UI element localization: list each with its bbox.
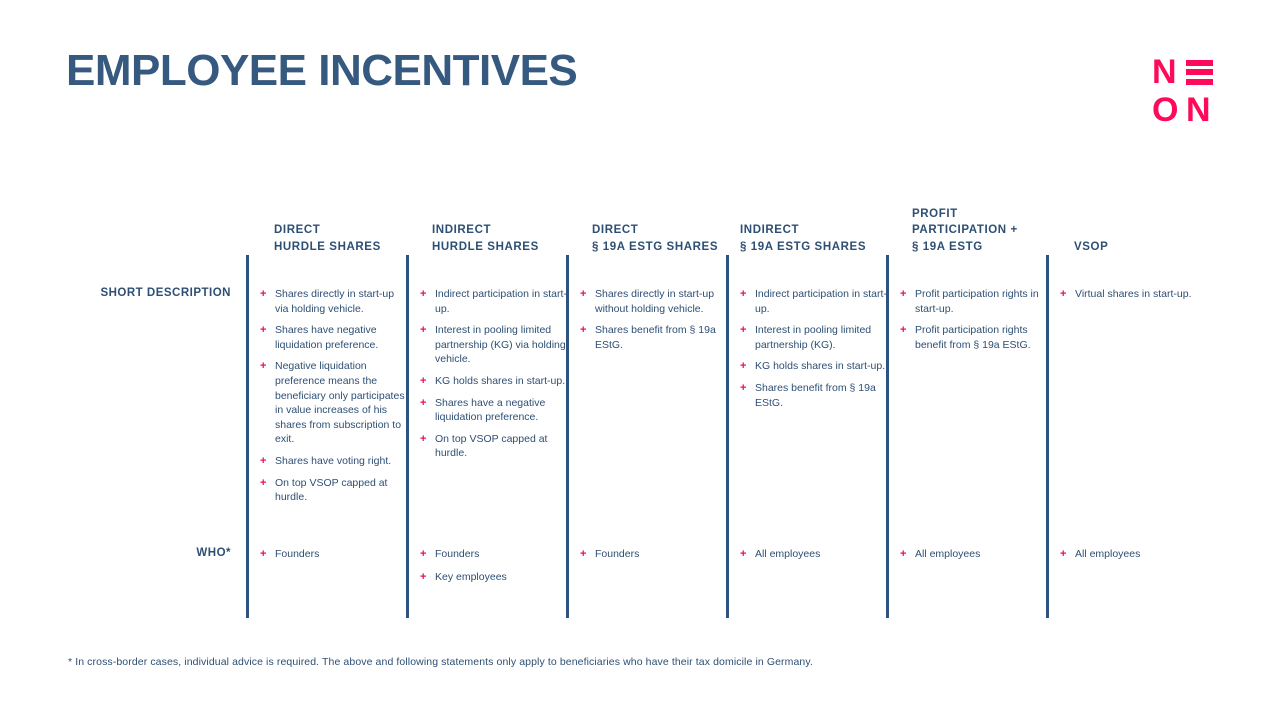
header-line: PARTICIPATION +	[912, 222, 1062, 239]
list-item: +Key employees	[420, 570, 568, 585]
list-item-text: Negative liquidation preference means th…	[275, 360, 405, 445]
header-line: § 19A ESTG SHARES	[740, 239, 890, 256]
list-item: +Negative liquidation preference means t…	[260, 359, 408, 447]
logo-letter-e-bars-icon	[1186, 60, 1220, 85]
list-item-text: All employees	[915, 548, 980, 560]
list-item: +Profit participation rights benefit fro…	[900, 323, 1052, 352]
list-item-text: Shares have a negative liquidation prefe…	[435, 397, 545, 424]
list-item: +KG holds shares in start-up.	[740, 359, 888, 374]
column-header-direct-hurdle-shares: DIRECT HURDLE SHARES	[274, 222, 424, 255]
header-line: HURDLE SHARES	[274, 239, 424, 256]
bullet-plus-icon: +	[740, 323, 746, 338]
list-item: +Founders	[580, 547, 728, 562]
cell-short-description-direct-hurdle-shares: +Shares directly in start-up via holding…	[260, 287, 408, 505]
bullet-plus-icon: +	[260, 454, 266, 469]
bullet-plus-icon: +	[580, 323, 586, 338]
list-item-text: Founders	[595, 548, 639, 560]
list-item-text: On top VSOP capped at hurdle.	[435, 433, 547, 460]
header-line: § 19A ESTG SHARES	[592, 239, 742, 256]
list-item: +On top VSOP capped at hurdle.	[260, 476, 408, 505]
cell-who-direct-hurdle-shares: +Founders	[260, 547, 408, 562]
bullet-plus-icon: +	[260, 323, 266, 338]
bullet-plus-icon: +	[1060, 287, 1066, 302]
column-header-indirect-19a-estg-shares: INDIRECT § 19A ESTG SHARES	[740, 222, 890, 255]
logo-letter-n-bottom-right: N	[1186, 93, 1220, 127]
list-item-text: Profit participation rights benefit from…	[915, 324, 1031, 351]
cell-short-description-profit-participation-19a-estg: +Profit participation rights in start-up…	[900, 287, 1052, 352]
bullet-plus-icon: +	[420, 432, 426, 447]
bullet-plus-icon: +	[740, 547, 746, 562]
bullet-plus-icon: +	[420, 396, 426, 411]
bullet-plus-icon: +	[580, 287, 586, 302]
list-item-text: Indirect participation in start-up.	[435, 288, 567, 315]
list-item: +Profit participation rights in start-up…	[900, 287, 1052, 316]
list-item-text: Founders	[435, 548, 479, 560]
page-title: EMPLOYEE INCENTIVES	[66, 49, 577, 93]
header-line: DIRECT	[274, 222, 424, 239]
bullet-plus-icon: +	[900, 323, 906, 338]
list-item: +All employees	[900, 547, 1048, 562]
list-item: +Founders	[420, 547, 568, 562]
list-item-text: Key employees	[435, 571, 507, 583]
bullet-plus-icon: +	[1060, 547, 1066, 562]
list-item-text: KG holds shares in start-up.	[435, 375, 565, 387]
incentives-comparison-table: DIRECT HURDLE SHARES INDIRECT HURDLE SHA…	[86, 185, 1196, 625]
column-header-profit-participation-19a-estg: PROFIT PARTICIPATION + § 19A ESTG	[912, 206, 1062, 256]
header-line: HURDLE SHARES	[432, 239, 582, 256]
header-line: INDIRECT	[740, 222, 890, 239]
cell-short-description-indirect-19a-estg-shares: +Indirect participation in start-up. +In…	[740, 287, 888, 410]
header-line: INDIRECT	[432, 222, 582, 239]
list-item-text: Shares directly in start-up without hold…	[595, 288, 714, 315]
bullet-plus-icon: +	[740, 287, 746, 302]
list-item-text: Interest in pooling limited partnership …	[755, 324, 871, 351]
list-item-text: Founders	[275, 548, 319, 560]
list-item: +Shares directly in start-up without hol…	[580, 287, 728, 316]
column-header-direct-19a-estg-shares: DIRECT § 19A ESTG SHARES	[592, 222, 742, 255]
list-item: +Interest in pooling limited partnership…	[420, 323, 568, 367]
bullet-plus-icon: +	[260, 287, 266, 302]
list-item: +Virtual shares in start-up.	[1060, 287, 1208, 302]
bullet-plus-icon: +	[740, 381, 746, 396]
list-item: +KG holds shares in start-up.	[420, 374, 568, 389]
logo-letter-o-bottom-left: O	[1152, 93, 1186, 127]
cell-who-vsop: +All employees	[1060, 547, 1208, 562]
list-item-text: All employees	[755, 548, 820, 560]
cell-short-description-indirect-hurdle-shares: +Indirect participation in start-up. +In…	[420, 287, 568, 461]
bullet-plus-icon: +	[260, 476, 266, 491]
header-line: PROFIT	[912, 206, 1062, 223]
row-label-who: WHO*	[86, 547, 231, 559]
header-line: VSOP	[1074, 239, 1224, 256]
list-item: +Interest in pooling limited partnership…	[740, 323, 888, 352]
list-item-text: Indirect participation in start-up.	[755, 288, 887, 315]
list-item: +Shares directly in start-up via holding…	[260, 287, 408, 316]
list-item-text: Shares benefit from § 19a EStG.	[755, 382, 876, 409]
bullet-plus-icon: +	[420, 374, 426, 389]
list-item-text: Virtual shares in start-up.	[1075, 288, 1192, 300]
list-item: +Shares have negative liquidation prefer…	[260, 323, 408, 352]
row-label-short-description: SHORT DESCRIPTION	[86, 287, 231, 299]
column-header-vsop: VSOP	[1074, 239, 1224, 256]
bullet-plus-icon: +	[420, 323, 426, 338]
column-header-indirect-hurdle-shares: INDIRECT HURDLE SHARES	[432, 222, 582, 255]
list-item-text: Shares have voting right.	[275, 455, 391, 467]
logo-letter-n-top-left: N	[1152, 55, 1186, 89]
column-divider-1	[246, 255, 249, 618]
list-item: +Indirect participation in start-up.	[420, 287, 568, 316]
bullet-plus-icon: +	[260, 359, 266, 374]
bullet-plus-icon: +	[900, 547, 906, 562]
cell-who-direct-19a-estg-shares: +Founders	[580, 547, 728, 562]
bullet-plus-icon: +	[420, 570, 426, 585]
header-line: DIRECT	[592, 222, 742, 239]
list-item-text: Profit participation rights in start-up.	[915, 288, 1039, 315]
cell-short-description-direct-19a-estg-shares: +Shares directly in start-up without hol…	[580, 287, 728, 352]
list-item-text: On top VSOP capped at hurdle.	[275, 477, 387, 504]
cell-who-indirect-19a-estg-shares: +All employees	[740, 547, 888, 562]
list-item-text: Shares benefit from § 19a EStG.	[595, 324, 716, 351]
cell-who-indirect-hurdle-shares: +Founders +Key employees	[420, 547, 568, 584]
header-line: § 19A ESTG	[912, 239, 1062, 256]
bullet-plus-icon: +	[420, 547, 426, 562]
list-item-text: Interest in pooling limited partnership …	[435, 324, 566, 365]
list-item: +All employees	[1060, 547, 1208, 562]
list-item: +Shares benefit from § 19a EStG.	[580, 323, 728, 352]
bullet-plus-icon: +	[900, 287, 906, 302]
list-item-text: All employees	[1075, 548, 1140, 560]
list-item: +Shares have voting right.	[260, 454, 408, 469]
cell-who-profit-participation-19a-estg: +All employees	[900, 547, 1048, 562]
list-item: +Indirect participation in start-up.	[740, 287, 888, 316]
footnote: * In cross-border cases, individual advi…	[68, 655, 813, 669]
list-item-text: Shares directly in start-up via holding …	[275, 288, 394, 315]
list-item-text: KG holds shares in start-up.	[755, 360, 885, 372]
bullet-plus-icon: +	[740, 359, 746, 374]
bullet-plus-icon: +	[260, 547, 266, 562]
list-item: +Founders	[260, 547, 408, 562]
bullet-plus-icon: +	[420, 287, 426, 302]
logo-grid: N O N	[1152, 53, 1222, 129]
cell-short-description-vsop: +Virtual shares in start-up.	[1060, 287, 1208, 302]
logo-e-bars-icon	[1186, 60, 1213, 85]
list-item-text: Shares have negative liquidation prefere…	[275, 324, 378, 351]
table-header-row: DIRECT HURDLE SHARES INDIRECT HURDLE SHA…	[86, 185, 1196, 255]
list-item: +On top VSOP capped at hurdle.	[420, 432, 568, 461]
bullet-plus-icon: +	[580, 547, 586, 562]
neon-logo: N O N	[1152, 53, 1222, 129]
list-item: +Shares have a negative liquidation pref…	[420, 396, 568, 425]
list-item: +Shares benefit from § 19a EStG.	[740, 381, 888, 410]
list-item: +All employees	[740, 547, 888, 562]
